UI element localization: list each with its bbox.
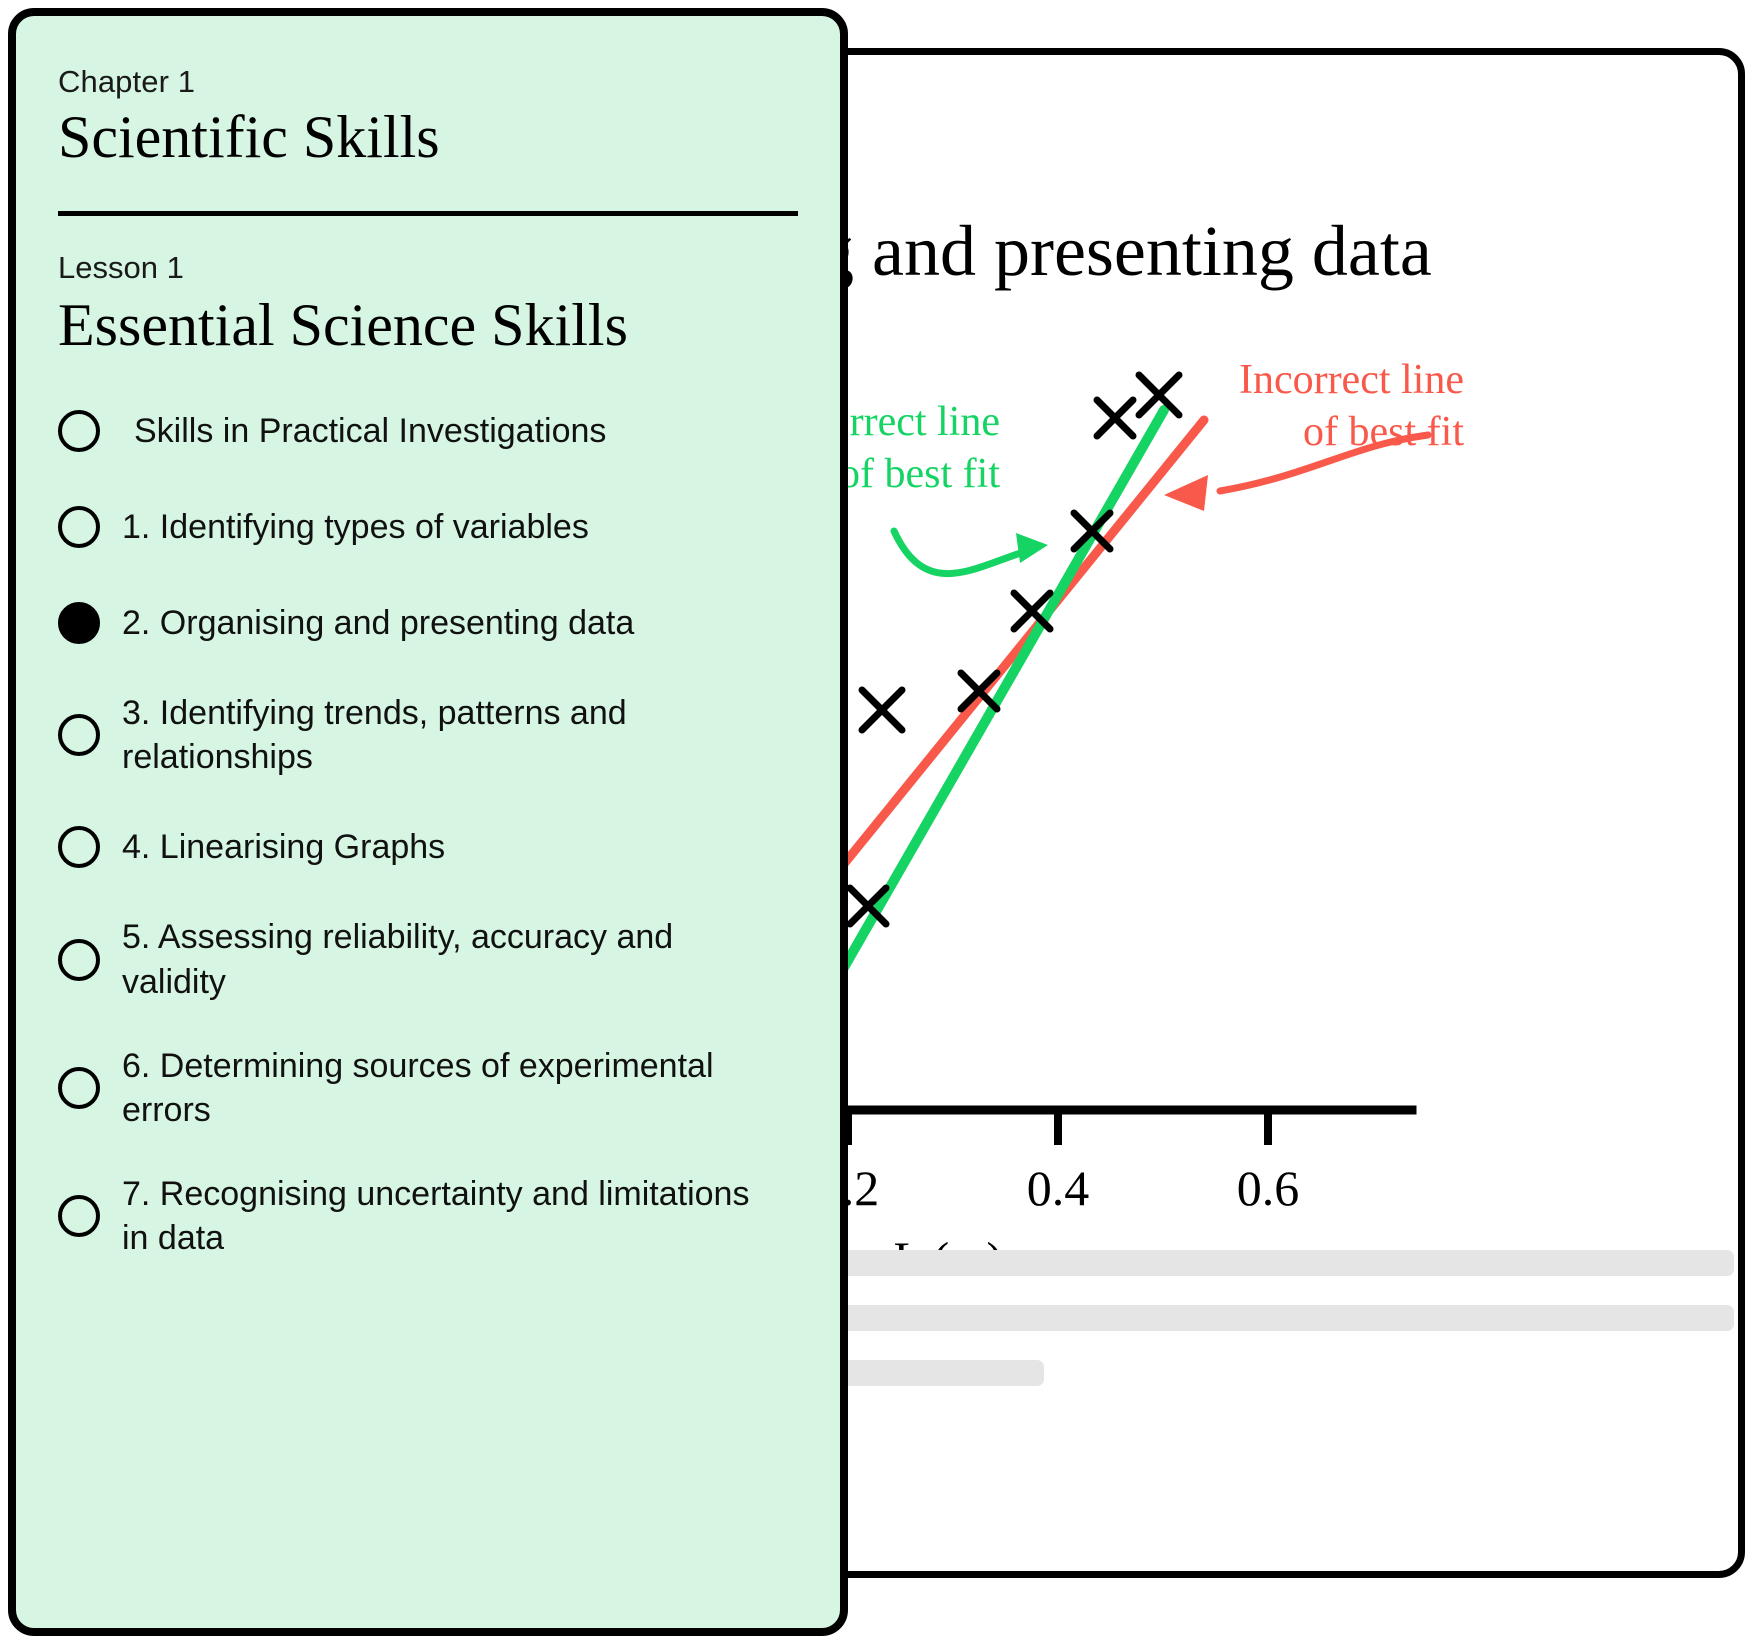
screenshot-root: ing and presenting data bbox=[0, 0, 1755, 1650]
lesson-list-item[interactable]: 1. Identifying types of variables bbox=[58, 499, 796, 555]
lesson-item-label: 6. Determining sources of experimental e… bbox=[122, 1044, 762, 1132]
chart-svg: Correct line of best fit Incorrect line … bbox=[752, 305, 1742, 1265]
incorrect-line-label-line2: of best fit bbox=[1303, 409, 1464, 455]
lesson-item-label: 1. Identifying types of variables bbox=[122, 505, 589, 549]
data-point bbox=[862, 690, 902, 730]
lesson-item-label: 4. Linearising Graphs bbox=[122, 825, 445, 869]
lesson-list-item[interactable]: 5. Assessing reliability, accuracy and v… bbox=[58, 915, 796, 1003]
radio-unselected-icon[interactable] bbox=[58, 826, 100, 868]
x-tick-label: 0.4 bbox=[1027, 1160, 1090, 1216]
placeholder-text-bar bbox=[774, 1250, 1734, 1276]
radio-unselected-icon[interactable] bbox=[58, 1067, 100, 1109]
placeholder-text-bar bbox=[774, 1305, 1734, 1331]
incorrect-line-label: Incorrect line of best fit bbox=[1239, 357, 1464, 455]
radio-unselected-icon[interactable] bbox=[58, 410, 100, 452]
lesson-list-item[interactable]: 6. Determining sources of experimental e… bbox=[58, 1044, 796, 1132]
radio-unselected-icon[interactable] bbox=[58, 506, 100, 548]
x-tick-label: 0.6 bbox=[1237, 1160, 1300, 1216]
lesson-content-card: ing and presenting data bbox=[745, 48, 1745, 1578]
lesson-list-item[interactable]: 3. Identifying trends, patterns and rela… bbox=[58, 691, 796, 779]
lesson-list: Skills in Practical Investigations 1. Id… bbox=[58, 403, 796, 1261]
x-axis bbox=[752, 1110, 1412, 1145]
best-fit-line-chart: Correct line of best fit Incorrect line … bbox=[752, 305, 1742, 1265]
radio-unselected-icon[interactable] bbox=[58, 714, 100, 756]
chapter-eyebrow: Chapter 1 bbox=[58, 64, 796, 100]
correct-line-label-line2: of best fit bbox=[839, 451, 1000, 497]
incorrect-line-label-line1: Incorrect line bbox=[1239, 357, 1464, 403]
lesson-item-label: 3. Identifying trends, patterns and rela… bbox=[122, 691, 762, 779]
chapter-title: Scientific Skills bbox=[58, 106, 796, 169]
radio-unselected-icon[interactable] bbox=[58, 939, 100, 981]
lesson-title: Essential Science Skills bbox=[58, 294, 796, 357]
lesson-list-item[interactable]: 4. Linearising Graphs bbox=[58, 819, 796, 875]
page-title: ing and presenting data bbox=[762, 215, 1742, 287]
data-point bbox=[1097, 400, 1133, 436]
lesson-list-item[interactable]: Skills in Practical Investigations bbox=[58, 403, 796, 459]
lesson-item-label: 2. Organising and presenting data bbox=[122, 601, 634, 645]
lesson-eyebrow: Lesson 1 bbox=[58, 250, 796, 286]
lesson-navigation-sidebar: Chapter 1 Scientific Skills Lesson 1 Ess… bbox=[8, 8, 848, 1636]
correct-line-arrow bbox=[894, 531, 1048, 574]
lesson-list-item[interactable]: 7. Recognising uncertainty and limitatio… bbox=[58, 1172, 796, 1260]
radio-selected-icon[interactable] bbox=[58, 602, 100, 644]
lesson-item-label: 7. Recognising uncertainty and limitatio… bbox=[122, 1172, 762, 1260]
lesson-item-label: Skills in Practical Investigations bbox=[134, 409, 606, 453]
x-axis-tick-labels: 0.2 0.4 0.6 bbox=[817, 1160, 1300, 1216]
section-divider bbox=[58, 211, 798, 216]
lesson-item-label: 5. Assessing reliability, accuracy and v… bbox=[122, 915, 762, 1003]
lesson-list-item-selected[interactable]: 2. Organising and presenting data bbox=[58, 595, 796, 651]
radio-unselected-icon[interactable] bbox=[58, 1195, 100, 1237]
